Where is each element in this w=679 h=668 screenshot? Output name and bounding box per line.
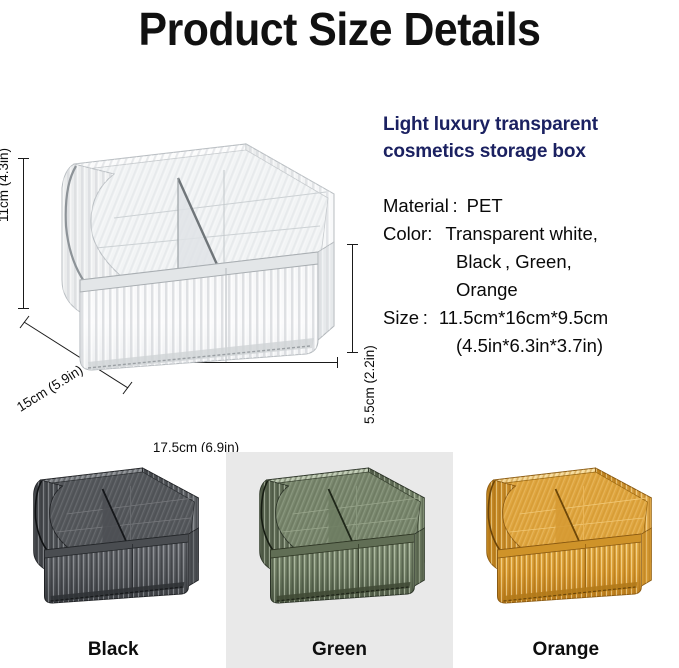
spec-key-material: Material : — [383, 192, 458, 220]
variant-orange[interactable]: Orange — [453, 452, 679, 668]
spec-value-size-inches: (4.5in*6.3in*3.7in) — [383, 332, 675, 360]
product-info-block: Light luxury transparent cosmetics stora… — [383, 112, 675, 361]
spec-row-color: Color: Transparent white, — [383, 220, 675, 248]
variant-label-orange: Orange — [453, 639, 679, 661]
spec-value-color: Transparent white, — [432, 220, 675, 248]
spec-list: Material : PET Color: Transparent white,… — [383, 192, 675, 361]
front-height-dimension-cap-top — [347, 244, 358, 245]
variant-black[interactable]: Black — [0, 452, 226, 668]
spec-value-color-line3: Orange — [383, 276, 675, 304]
size-details-section: 11cm (4.3in) 15cm (5.9in) 17.5cm (6.9in)… — [0, 72, 679, 452]
transparent-storage-box-illustration — [18, 130, 348, 382]
variant-label-black: Black — [0, 639, 226, 661]
product-detail-page: Product Size Details 11cm (4.3in) 15cm (… — [0, 0, 679, 668]
front-height-dimension-cap-bottom — [347, 352, 358, 353]
variant-green[interactable]: Green — [226, 452, 452, 668]
variant-black-image — [11, 462, 216, 612]
color-variants-row: Black — [0, 452, 679, 668]
storage-box-illustration-black — [11, 462, 216, 612]
product-heading: Light luxury transparent cosmetics stora… — [383, 112, 675, 166]
front-height-dimension-line — [352, 244, 353, 352]
variant-green-image — [237, 462, 442, 612]
storage-box-illustration-green — [237, 462, 442, 612]
spec-value-material: PET — [458, 192, 675, 220]
storage-box-illustration-orange — [463, 462, 668, 612]
spec-key-size: Size : — [383, 304, 428, 332]
page-title: Product Size Details — [24, 2, 655, 56]
spec-row-size: Size : 11.5cm*16cm*9.5cm — [383, 304, 675, 332]
variant-orange-image — [463, 462, 668, 612]
spec-row-material: Material : PET — [383, 192, 675, 220]
spec-value-size: 11.5cm*16cm*9.5cm — [428, 304, 675, 332]
spec-value-color-line2: Black , Green, — [383, 248, 675, 276]
hero-product-image — [18, 130, 348, 382]
spec-key-color: Color: — [383, 220, 432, 248]
front-height-dimension-label: 5.5cm (2.2in) — [362, 345, 377, 424]
variant-label-green: Green — [226, 639, 452, 661]
